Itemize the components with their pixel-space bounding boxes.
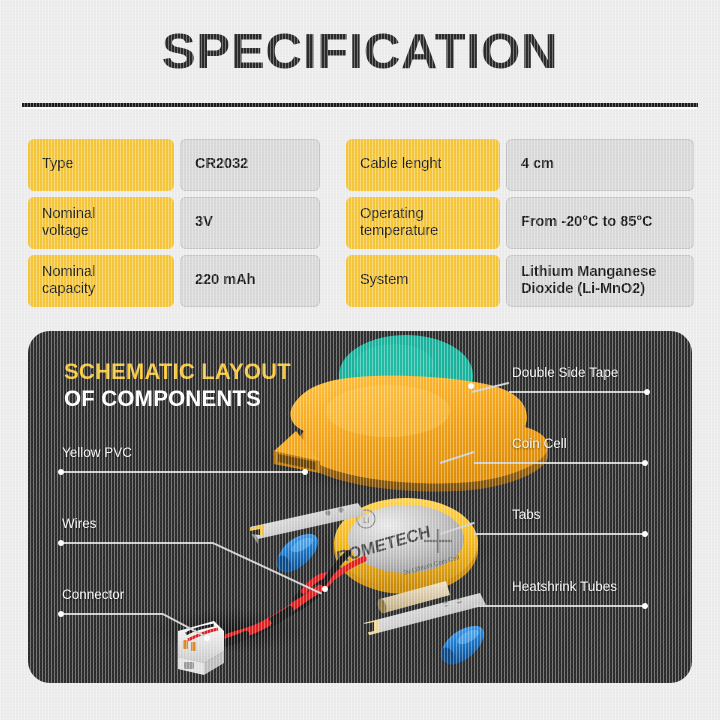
spec-label: Nominalcapacity xyxy=(28,255,174,307)
spec-table-right-column: Cable lenght 4 cm Operatingtemperature F… xyxy=(346,139,694,307)
callout-label: Connector xyxy=(62,587,124,602)
callout-coin-cell: Coin Cell xyxy=(512,436,567,451)
table-row: Nominalvoltage 3V xyxy=(28,197,320,249)
schematic-heading: SCHEMATIC LAYOUT OF COMPONENTS xyxy=(64,359,291,413)
leader-line xyxy=(472,387,692,397)
spec-label: Nominalvoltage xyxy=(28,197,174,249)
callout-yellow-pvc: Yellow PVC xyxy=(58,445,132,460)
callout-wires: Wires xyxy=(58,516,97,531)
table-row: Operatingtemperature From -20°C to 85°C xyxy=(346,197,694,249)
callout-tabs: Tabs xyxy=(512,507,541,522)
svg-text:Li: Li xyxy=(363,516,369,525)
table-row: Nominalcapacity 220 mAh xyxy=(28,255,320,307)
table-row: System Lithium ManganeseDioxide (Li-MnO2… xyxy=(346,255,694,307)
spec-value: Lithium ManganeseDioxide (Li-MnO2) xyxy=(506,255,694,307)
spec-label: Operatingtemperature xyxy=(346,197,500,249)
spec-value: 220 mAh xyxy=(180,255,320,307)
spec-value: CR2032 xyxy=(180,139,320,191)
callout-heatshrink-tubes: Heatshrink Tubes xyxy=(512,579,617,594)
callout-label: Coin Cell xyxy=(512,436,567,451)
blue-tube-lower xyxy=(438,626,484,667)
callout-double-side-tape: Double Side Tape xyxy=(512,365,618,380)
connector-part xyxy=(178,621,224,675)
spec-label: Type xyxy=(28,139,174,191)
title-divider xyxy=(22,103,698,107)
spec-value: From -20°C to 85°C xyxy=(506,197,694,249)
schematic-panel: SCHEMATIC LAYOUT OF COMPONENTS xyxy=(28,331,692,683)
page-title: SPECIFICATION xyxy=(0,28,720,77)
leader-line xyxy=(440,529,690,539)
spec-label: Cable lenght xyxy=(346,139,500,191)
callout-connector: Connector xyxy=(58,587,124,602)
table-row: Cable lenght 4 cm xyxy=(346,139,694,191)
callout-label: Double Side Tape xyxy=(512,365,618,380)
table-row: Type CR2032 xyxy=(28,139,320,191)
schematic-heading-line2: OF COMPONENTS xyxy=(64,386,291,413)
spec-value: 4 cm xyxy=(506,139,694,191)
spec-value: 3V xyxy=(180,197,320,249)
callout-label: Heatshrink Tubes xyxy=(512,579,617,594)
leader-line xyxy=(440,458,690,468)
leader-line xyxy=(58,467,308,477)
spec-table-left-column: Type CR2032 Nominalvoltage 3V Nominalcap… xyxy=(28,139,320,307)
callout-label: Yellow PVC xyxy=(62,445,132,460)
callout-label: Tabs xyxy=(512,507,541,522)
callout-label: Wires xyxy=(62,516,97,531)
leader-line xyxy=(58,609,258,619)
spec-label: System xyxy=(346,255,500,307)
leader-line xyxy=(58,538,298,548)
schematic-heading-line1: SCHEMATIC LAYOUT xyxy=(64,359,291,386)
leader-line xyxy=(440,601,690,611)
